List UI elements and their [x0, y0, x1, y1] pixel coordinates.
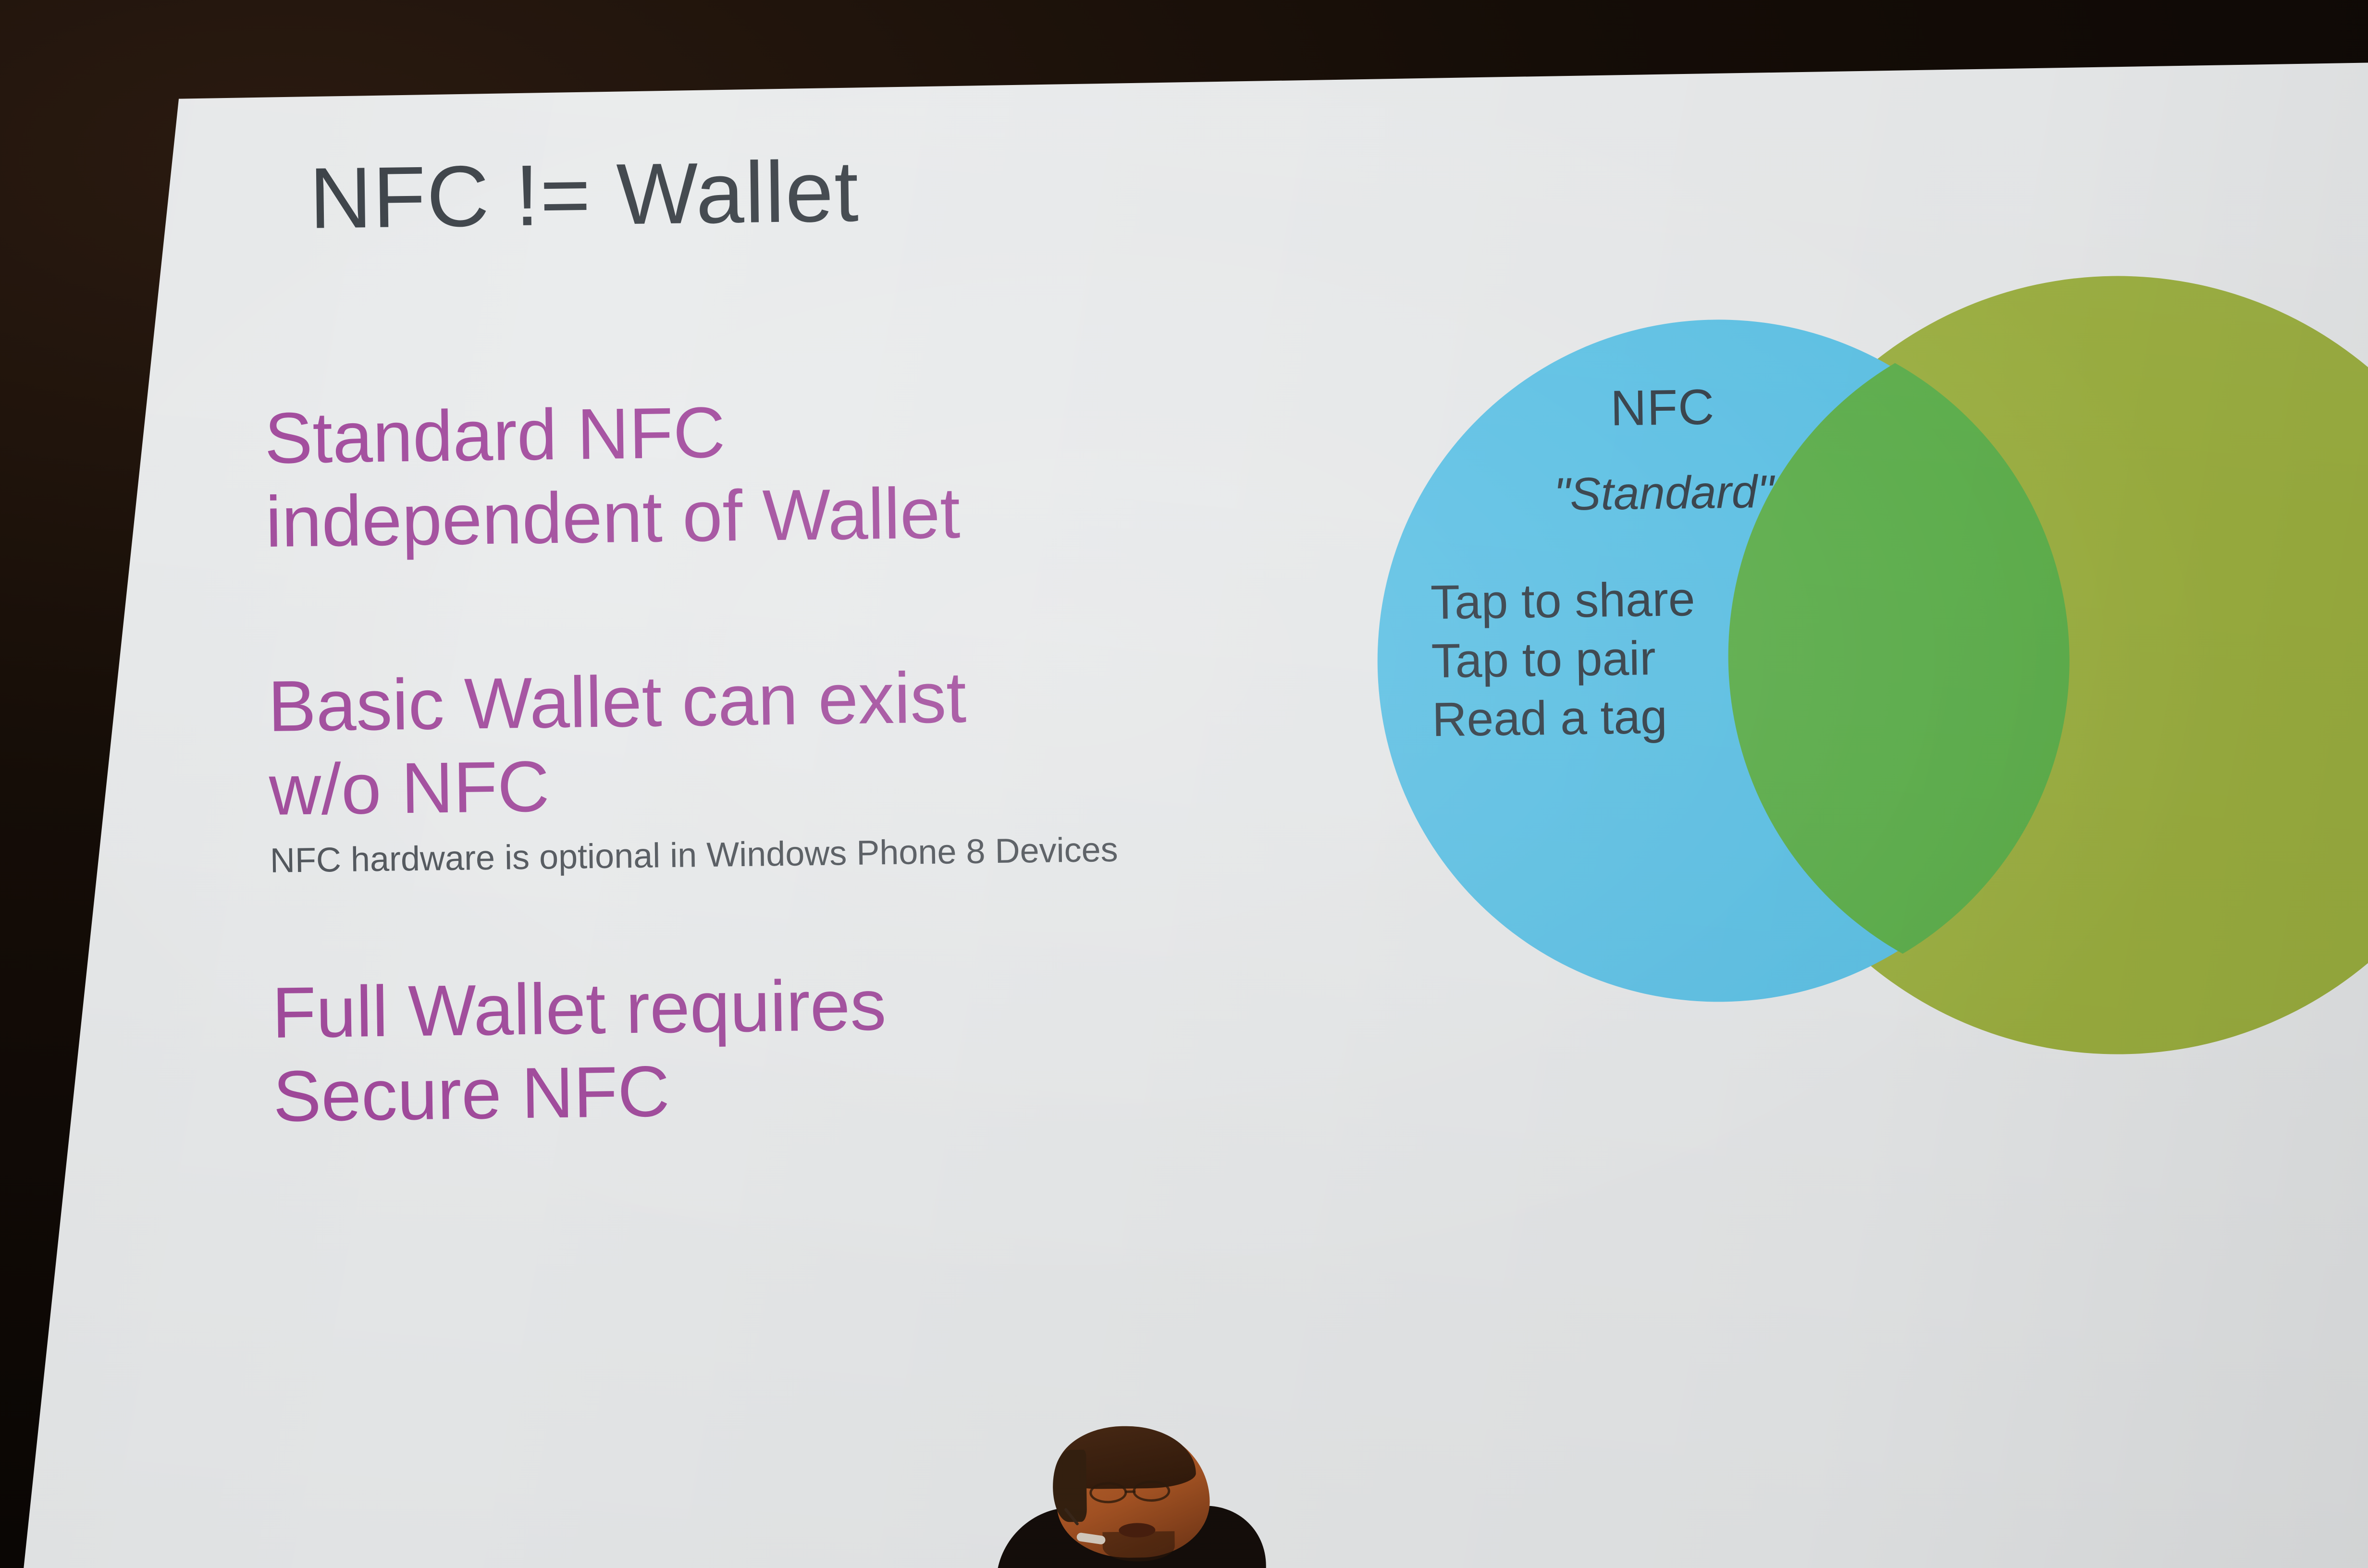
venn-diagram: NFC "Standard" Tap to share Tap to pair …	[1320, 252, 2368, 1382]
presenter-eyeglasses-bridge	[1125, 1490, 1135, 1493]
bullet-item-basic-wallet: Basic Wallet can exist w/o NFC NFC hardw…	[268, 649, 1400, 882]
bullet-line: Full Wallet requires Secure NFC	[271, 956, 1403, 1139]
bullet-line-1: Full Wallet requires	[271, 965, 887, 1053]
bullet-item-full-wallet: Full Wallet requires Secure NFC	[271, 956, 1403, 1139]
venn-nfc-labels: NFC "Standard" Tap to share Tap to pair …	[1407, 380, 1922, 749]
venn-nfc-title: NFC	[1407, 380, 1917, 436]
venn-nfc-subtitle: "Standard"	[1409, 467, 1919, 520]
bullet-subnote: NFC hardware is optional in Windows Phon…	[270, 825, 1399, 882]
conference-photo-stage: NFC "Standard" Tap to share Tap to pair …	[0, 0, 2368, 1568]
bullet-item-standard-nfc: Standard NFC independent of Wallet	[264, 381, 1395, 563]
presenter-silhouette	[998, 1419, 1269, 1568]
bullet-line-2: independent of Wallet	[265, 472, 961, 562]
venn-nfc-capability-list: Tap to share Tap to pair Read a tag	[1410, 567, 1922, 749]
bullet-line-2: w/o NFC	[269, 746, 550, 830]
list-item: Tap to pair	[1431, 625, 1921, 690]
slide-content: NFC "Standard" Tap to share Tap to pair …	[0, 0, 2368, 1568]
slide-bullet-list: Standard NFC independent of Wallet Basic…	[264, 381, 1403, 1188]
bullet-line-1: Basic Wallet can exist	[268, 657, 967, 747]
bullet-line-1: Standard NFC	[264, 392, 726, 478]
presenter-sideburn	[1052, 1450, 1087, 1522]
bullet-line: Standard NFC independent of Wallet	[264, 381, 1395, 563]
list-item: Read a tag	[1431, 684, 1922, 749]
projection-screen: NFC "Standard" Tap to share Tap to pair …	[0, 0, 2368, 1568]
list-item: Tap to share	[1430, 567, 1920, 632]
slide-title: NFC != Wallet	[309, 148, 860, 242]
bullet-line-2: Secure NFC	[272, 1051, 670, 1137]
bullet-line: Basic Wallet can exist w/o NFC	[268, 649, 1399, 832]
